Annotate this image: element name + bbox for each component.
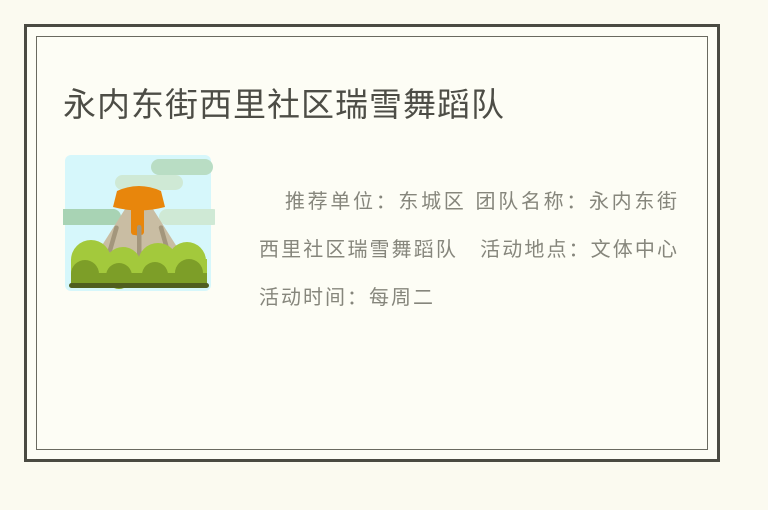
article-thumbnail[interactable] — [63, 147, 215, 299]
page-title: 永内东街西里社区瑞雪舞蹈队 — [63, 83, 505, 127]
volcano-icon — [63, 147, 215, 299]
article-description: 推荐单位：东城区 团队名称：永内东街西里社区瑞雪舞蹈队 活动地点：文体中心 活动… — [259, 177, 679, 321]
page-root: 永内东街西里社区瑞雪舞蹈队 — [0, 0, 768, 510]
article-card-frame: 永内东街西里社区瑞雪舞蹈队 — [24, 24, 720, 462]
